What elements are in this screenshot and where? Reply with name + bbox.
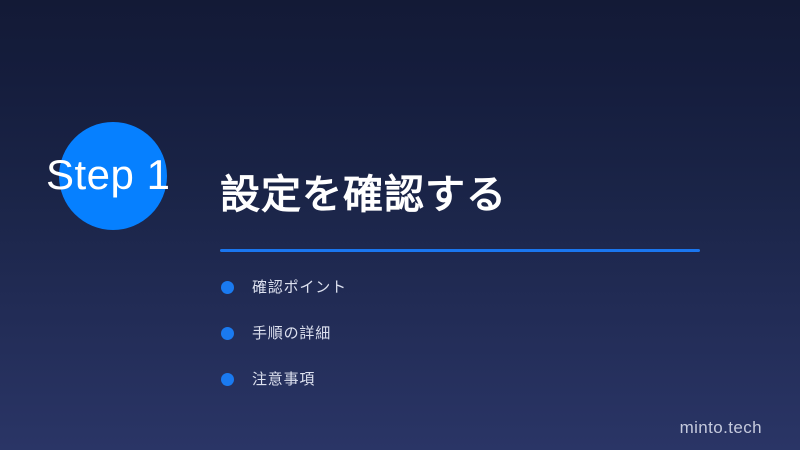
bullet-dot-icon [221,373,234,386]
bullet-dot-icon [221,281,234,294]
slide-canvas: Step 1 設定を確認する 確認ポイント 手順の詳細 注意事項 minto.t… [0,0,800,450]
bullet-dot-icon [221,327,234,340]
list-item-label: 注意事項 [252,370,315,390]
list-item: 手順の詳細 [220,318,720,350]
list-item-label: 確認ポイント [252,278,347,298]
page-title: 設定を確認する [220,168,720,222]
bullet-list: 確認ポイント 手順の詳細 注意事項 [220,272,720,396]
footer-watermark: minto.tech [680,417,762,439]
step-badge-label: Step 1 [46,151,170,199]
slide-content: 設定を確認する 確認ポイント 手順の詳細 注意事項 [220,141,720,410]
list-item: 確認ポイント [220,272,720,304]
list-item: 注意事項 [220,364,720,396]
list-item-label: 手順の詳細 [252,324,331,344]
title-divider [220,249,700,252]
